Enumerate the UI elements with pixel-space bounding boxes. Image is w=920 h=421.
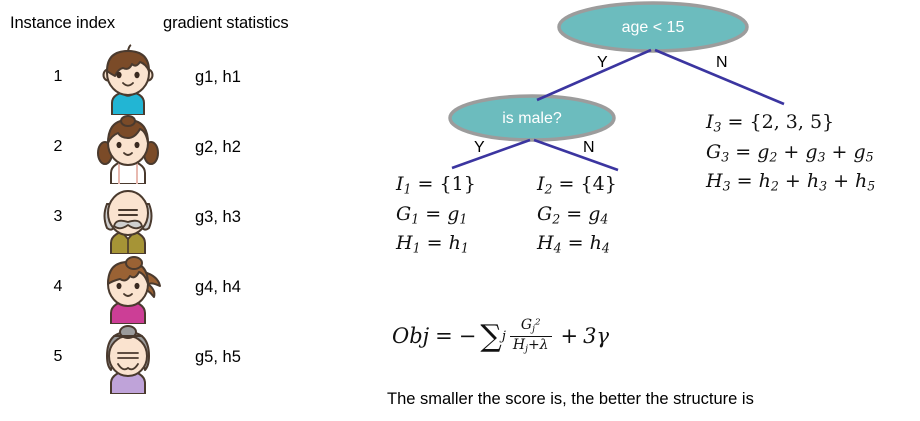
- caption-text: The smaller the score is, the better the…: [387, 390, 754, 409]
- objective-fraction: Gj2 Hj+λ: [510, 318, 552, 355]
- child-yes-edge: [452, 140, 530, 168]
- fraction-denominator: Hj+λ: [510, 337, 552, 355]
- leaf-3-line-1: I3 = {2, 3, 5}: [706, 110, 875, 140]
- objective-plus: +: [561, 324, 579, 348]
- leaf-1-statistics: I1 = {1} G1 = g1 H1 = h1: [396, 172, 476, 261]
- leaf-1-line-2: G1 = g1: [396, 202, 476, 232]
- table-row-gradient-1: g1, h1: [195, 68, 241, 87]
- objective-lhs: Obj: [392, 324, 429, 348]
- objective-penalty-term: 3γ: [583, 324, 609, 348]
- column-header-gradient-statistics: gradient statistics: [163, 14, 289, 33]
- column-header-instance-index: Instance index: [10, 14, 115, 33]
- boy-cyan-shirt-icon: [92, 43, 164, 115]
- child-no-label: N: [583, 139, 595, 157]
- leaf-2-line-3: H4 = h4: [537, 231, 617, 261]
- leaf-2-line-1: I2 = {4}: [537, 172, 617, 202]
- table-row-index-2: 2: [38, 138, 78, 156]
- child-node-label[interactable]: is male?: [472, 110, 592, 128]
- fraction-numerator: Gj2: [518, 318, 544, 336]
- summation-symbol: ∑: [480, 325, 501, 349]
- girl-pigtails-white-top-icon: [92, 112, 164, 184]
- root-node-label[interactable]: age < 15: [583, 19, 723, 37]
- child-yes-label: Y: [474, 139, 485, 157]
- leaf-3-statistics: I3 = {2, 3, 5} G3 = g2 + g3 + g5 H3 = h2…: [706, 110, 875, 199]
- girl-ponytail-pink-shirt-icon: [92, 252, 164, 324]
- table-row-gradient-3: g3, h3: [195, 208, 241, 227]
- table-row-index-4: 4: [38, 278, 78, 296]
- elderly-man-mustache-icon: [92, 182, 164, 254]
- diagram-canvas: Instance index gradient statistics 1 g1,…: [0, 0, 920, 421]
- objective-minus: −: [459, 324, 477, 348]
- objective-equals: =: [435, 324, 453, 348]
- table-row-index-5: 5: [38, 348, 78, 366]
- table-row-index-3: 3: [38, 208, 78, 226]
- leaf-2-line-2: G2 = g4: [537, 202, 617, 232]
- elderly-woman-bun-icon: [92, 322, 164, 394]
- leaf-1-line-1: I1 = {1}: [396, 172, 476, 202]
- table-row-gradient-5: g5, h5: [195, 348, 241, 367]
- root-yes-edge: [537, 50, 651, 100]
- leaf-3-line-2: G3 = g2 + g3 + g5: [706, 140, 875, 170]
- leaf-3-line-3: H3 = h2 + h3 + h5: [706, 169, 875, 199]
- child-no-edge: [534, 140, 618, 170]
- table-row-gradient-4: g4, h4: [195, 278, 241, 297]
- leaf-1-line-3: H1 = h1: [396, 231, 476, 261]
- summation-subscript: j: [502, 329, 506, 344]
- objective-formula: Obj = − ∑j Gj2 Hj+λ + 3γ: [392, 318, 609, 355]
- table-row-index-1: 1: [38, 68, 78, 86]
- root-yes-label: Y: [597, 54, 608, 72]
- leaf-2-statistics: I2 = {4} G2 = g4 H4 = h4: [537, 172, 617, 261]
- table-row-gradient-2: g2, h2: [195, 138, 241, 157]
- root-no-label: N: [716, 54, 728, 72]
- leaf-3-line-2-terms: g2 + g3 + g5: [757, 141, 873, 163]
- leaf-3-line-3-terms: h2 + h3 + h5: [759, 170, 876, 192]
